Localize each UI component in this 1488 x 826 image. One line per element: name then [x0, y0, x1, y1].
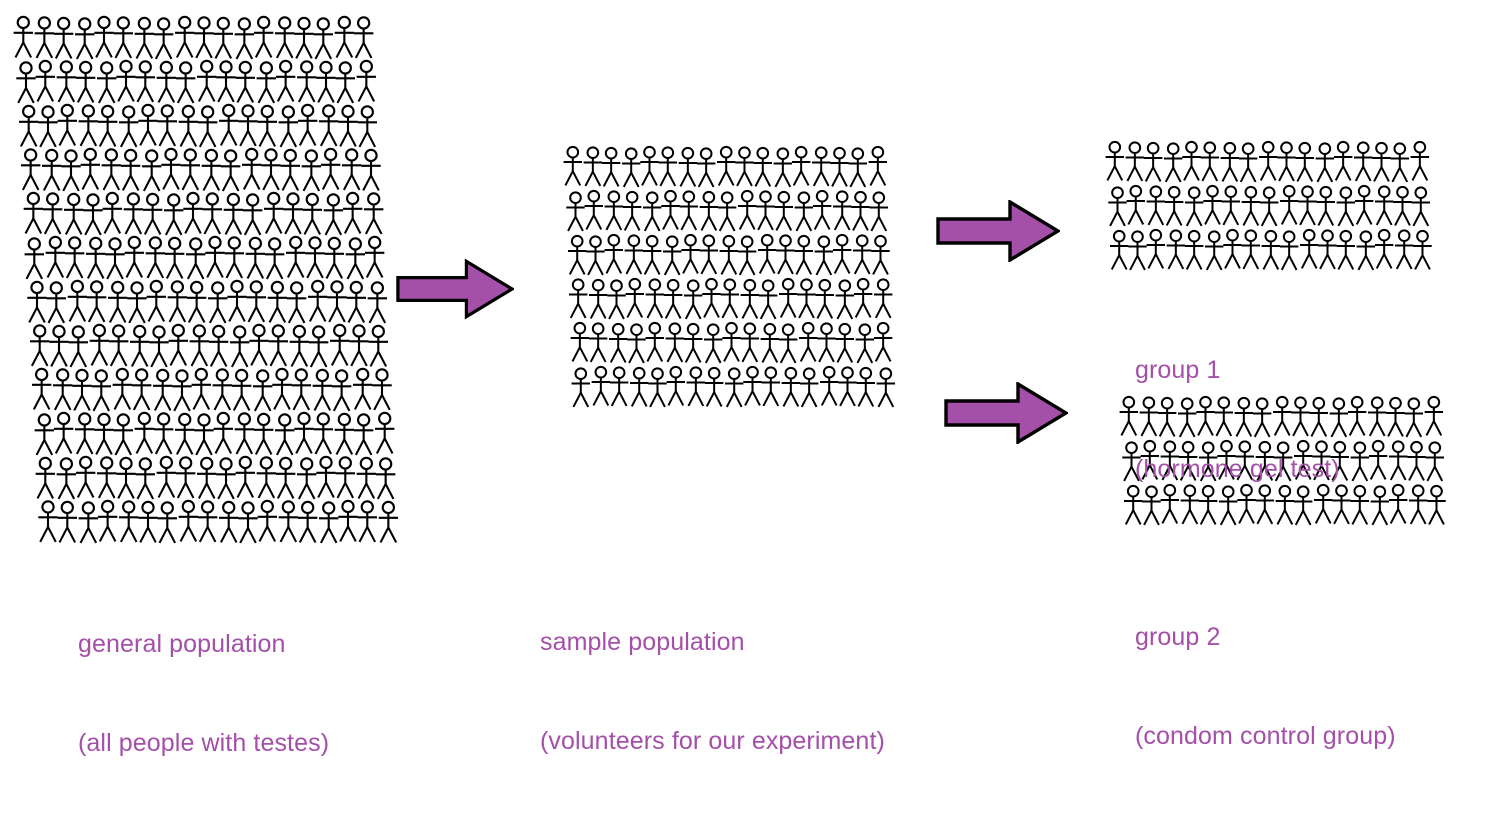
stick-figure-icon: [1110, 228, 1129, 271]
caption-general-line-2: (all people with testes): [78, 727, 329, 760]
stick-figure-icon: [253, 412, 273, 455]
stick-figure-icon: [13, 15, 33, 58]
stick-figure-icon: [609, 321, 628, 364]
stick-figure-icon: [1357, 229, 1376, 272]
stick-figure-icon: [280, 148, 300, 191]
stick-figure-icon: [234, 412, 254, 455]
stick-figure-icon: [124, 235, 144, 278]
stick-figure-icon: [776, 233, 795, 276]
stick-figure-icon: [98, 104, 118, 147]
stick-figure-icon: [1404, 396, 1423, 439]
stick-figure-icon: [235, 455, 255, 498]
stick-figure-icon: [1424, 394, 1443, 437]
stick-figure-icon: [678, 145, 697, 188]
stick-figure-icon: [276, 456, 296, 499]
stick-figure-icon: [563, 144, 582, 187]
stick-figure-icon: [180, 148, 200, 191]
stick-figure-icon: [256, 456, 276, 499]
stick-figure-icon: [566, 190, 585, 233]
stick-figure-icon: [1372, 140, 1391, 183]
stick-figure-icon: [372, 368, 392, 411]
stick-figure-icon: [134, 411, 154, 454]
population-row: [564, 145, 895, 188]
stick-figure-icon: [1348, 394, 1367, 437]
stick-figure-icon: [610, 365, 629, 408]
stick-figure-icon: [149, 325, 169, 368]
stick-figure-icon: [146, 279, 166, 322]
stick-figure-icon: [1375, 227, 1394, 270]
stick-figure-icon: [871, 233, 890, 276]
stick-figure-icon: [1205, 229, 1224, 272]
stick-figure-icon: [279, 105, 299, 148]
population-row: [25, 236, 398, 279]
stick-figure-icon: [1316, 184, 1335, 227]
stick-figure-icon: [717, 190, 736, 233]
stick-figure-icon: [116, 456, 136, 499]
stick-figure-icon: [1354, 140, 1373, 183]
stick-figure-icon: [49, 324, 69, 367]
stick-figure-icon: [720, 277, 739, 320]
stick-figure-icon: [179, 499, 199, 542]
stick-figure-icon: [20, 148, 40, 191]
population-row: [1106, 140, 1432, 183]
stick-figure-icon: [213, 411, 233, 454]
stick-figure-icon: [324, 236, 344, 279]
stick-figure-icon: [30, 324, 50, 367]
stick-figure-icon: [357, 59, 377, 102]
stick-figure-icon: [568, 277, 587, 320]
population-row: [14, 16, 398, 59]
population-row: [36, 456, 398, 499]
stick-figure-icon: [1300, 227, 1319, 270]
stick-figure-icon: [220, 149, 240, 192]
stick-figure-icon: [1425, 440, 1444, 483]
stick-figure-icon: [666, 321, 685, 364]
stick-figure-icon: [42, 192, 62, 235]
stick-figure-icon: [298, 500, 318, 543]
stick-figure-icon: [97, 456, 117, 499]
stick-figure-icon: [186, 237, 206, 280]
stick-figure-icon: [740, 277, 759, 320]
stick-figure-icon: [238, 501, 258, 544]
stick-figure-icon: [175, 15, 195, 58]
stick-figure-icon: [109, 324, 129, 367]
stick-figure-icon: [187, 280, 207, 323]
stick-figure-icon: [327, 280, 347, 323]
stick-figure-icon: [833, 232, 852, 275]
stick-figure-icon: [141, 149, 161, 192]
stick-figure-icon: [127, 281, 147, 324]
block-arrow-right-icon: [946, 384, 1066, 442]
stick-figure-icon: [812, 188, 831, 231]
stick-figure-icon: [856, 322, 875, 365]
stick-figure-icon: [174, 412, 194, 455]
stick-figure-icon: [797, 277, 816, 320]
stick-figure-icon: [102, 191, 122, 234]
stick-figure-icon: [345, 237, 365, 280]
stick-figure-icon: [799, 320, 818, 363]
stick-figure-icon: [190, 324, 210, 367]
arrow-general-to-sample: [396, 256, 514, 322]
stick-figure-icon: [223, 192, 243, 235]
stick-figure-icon: [105, 237, 125, 280]
stick-figure-icon: [1262, 228, 1281, 271]
stick-figure-icon: [169, 323, 189, 366]
stick-figure-icon: [94, 15, 114, 58]
stick-figure-icon: [161, 147, 181, 190]
stick-figure-icon: [234, 17, 254, 60]
stick-figure-icon: [38, 500, 58, 543]
stick-figure-icon: [172, 369, 192, 412]
stick-figure-icon: [76, 455, 96, 498]
stick-figure-icon: [663, 234, 682, 277]
stick-figure-icon: [1164, 141, 1183, 184]
caption-sample-population: sample population (volunteers for our ex…: [540, 560, 885, 824]
population-row: [27, 280, 398, 323]
stick-figure-icon: [216, 457, 236, 500]
stick-figure-icon: [1105, 139, 1124, 182]
stick-figure-icon: [1239, 141, 1258, 184]
stick-figure-icon: [56, 457, 76, 500]
caption-group1-line-2: (hormone gel test): [1135, 453, 1340, 486]
stick-figure-icon: [1407, 439, 1426, 482]
stick-figure-icon: [219, 103, 239, 146]
stick-figure-icon: [800, 366, 819, 409]
population-row: [569, 277, 895, 320]
stick-figure-icon: [45, 235, 65, 278]
caption-sample-line-2: (volunteers for our experiment): [540, 725, 885, 758]
population-row: [1108, 184, 1433, 227]
stick-figure-icon: [231, 368, 251, 411]
stick-figure-icon: [257, 61, 277, 104]
stick-figure-icon: [758, 232, 777, 275]
stick-figure-icon: [156, 455, 176, 498]
stick-figure-icon: [313, 17, 333, 60]
stick-figure-icon: [699, 189, 718, 232]
stick-figure-icon: [369, 324, 389, 367]
stick-figure-icon: [290, 324, 310, 367]
stick-figure-icon: [75, 17, 95, 60]
caption-sample-line-1: sample population: [540, 626, 885, 659]
stick-figure-icon: [301, 149, 321, 192]
arrow-sample-to-group2: [944, 382, 1068, 444]
population-row: [29, 324, 398, 367]
population-row: [1109, 228, 1432, 271]
stick-figure-icon: [1413, 228, 1432, 271]
stick-figure-icon: [197, 59, 217, 102]
stick-figure-icon: [589, 321, 608, 364]
stick-figure-icon: [198, 105, 218, 148]
stick-figure-icon: [257, 499, 277, 542]
stick-figure-icon: [113, 413, 133, 456]
stick-figure-icon: [235, 60, 255, 103]
stick-figure-icon: [287, 281, 307, 324]
stick-figure-icon: [319, 104, 339, 147]
stick-figure-icon: [602, 145, 621, 188]
stick-figure-icon: [334, 15, 354, 58]
stick-figure-icon: [349, 324, 369, 367]
stick-figure-icon: [194, 413, 214, 456]
stick-figure-icon: [194, 16, 214, 59]
stick-figure-icon: [342, 191, 362, 234]
stick-figure-icon: [131, 368, 151, 411]
population-row: [572, 365, 895, 408]
stick-figure-icon: [697, 146, 716, 189]
stick-figure-icon: [622, 146, 641, 189]
population-row: [32, 368, 399, 411]
stick-figure-icon: [679, 189, 698, 232]
population-row: [23, 192, 398, 235]
stick-figure-icon: [1390, 141, 1409, 184]
stick-figure-icon: [230, 325, 250, 368]
stick-figure-icon: [191, 367, 211, 410]
stick-figure-icon: [1298, 184, 1317, 227]
caption-group-2: group 2 (condom control group): [1135, 555, 1396, 819]
stick-figure-icon: [353, 413, 373, 456]
stick-figure-icon: [57, 500, 77, 543]
population-row: [567, 233, 895, 276]
stick-figure-icon: [34, 16, 54, 59]
stick-figure-icon: [853, 276, 872, 319]
stick-figure-icon: [738, 234, 757, 277]
stick-figure-icon: [1336, 185, 1355, 228]
stick-figure-icon: [352, 367, 372, 410]
stick-figure-icon: [219, 500, 239, 543]
stick-figure-icon: [868, 144, 887, 187]
stick-figure-icon: [258, 104, 278, 147]
stick-figure-icon: [722, 320, 741, 363]
stick-figure-icon: [27, 280, 47, 323]
stick-figure-icon: [168, 280, 188, 323]
stick-figure-icon: [163, 193, 183, 236]
stick-figure-icon: [308, 279, 328, 322]
stick-figure-icon: [331, 369, 351, 412]
stick-figure-icon: [319, 501, 339, 544]
stick-figure-icon: [216, 60, 236, 103]
stick-figure-icon: [1371, 484, 1390, 527]
stick-figure-icon: [681, 232, 700, 275]
stick-figure-icon: [1411, 185, 1430, 228]
stick-figure-icon: [201, 148, 221, 191]
stick-figure-icon: [815, 277, 834, 320]
stick-figure-icon: [261, 148, 281, 191]
stick-figure-icon: [851, 189, 870, 232]
arrow-sample-to-group1: [936, 200, 1060, 262]
stick-figure-icon: [1393, 184, 1412, 227]
stick-figure-icon: [80, 147, 100, 190]
stick-figure-icon: [108, 280, 128, 323]
stick-figure-icon: [142, 192, 162, 235]
stick-figure-icon: [354, 16, 374, 59]
stick-figure-icon: [1126, 183, 1145, 226]
population-row: [566, 189, 895, 232]
stick-figure-icon: [625, 233, 644, 276]
stick-figure-icon: [323, 193, 343, 236]
stick-figure-icon: [283, 192, 303, 235]
stick-figure-icon: [112, 367, 132, 410]
stick-figure-icon: [737, 188, 756, 231]
stick-figure-icon: [152, 368, 172, 411]
stick-figure-icon: [135, 457, 155, 500]
stick-figure-icon: [119, 105, 139, 148]
stick-figure-icon: [227, 279, 247, 322]
caption-general-line-1: general population: [78, 628, 329, 661]
stick-figure-icon: [138, 103, 158, 146]
stick-figure-icon: [625, 276, 644, 319]
stick-figure-icon: [376, 457, 396, 500]
stick-figure-icon: [158, 104, 178, 147]
stick-figure-icon: [197, 456, 217, 499]
stick-figure-icon: [63, 192, 83, 235]
stick-figure-icon: [1203, 183, 1222, 226]
stick-figure-icon: [848, 146, 867, 189]
stick-figure-icon: [1336, 228, 1355, 271]
stick-figure-icon: [1409, 483, 1428, 526]
stick-figure-icon: [305, 236, 325, 279]
stick-figure-icon: [279, 500, 299, 543]
stick-figure-icon: [302, 192, 322, 235]
stick-figure-icon: [212, 368, 232, 411]
stick-figure-icon: [35, 59, 55, 102]
stick-figure-icon: [224, 236, 244, 279]
stick-figure-icon: [1427, 483, 1446, 526]
stick-figure-icon: [245, 236, 265, 279]
stick-figure-icon: [658, 145, 677, 188]
stick-figure-icon: [53, 411, 73, 454]
stick-figure-icon: [876, 366, 895, 409]
stick-figure-icon: [838, 365, 857, 408]
stick-figure-icon: [820, 364, 839, 407]
stick-figure-icon: [1125, 140, 1144, 183]
stick-figure-icon: [1334, 139, 1353, 182]
stick-figure-icon: [179, 104, 199, 147]
population-row: [570, 321, 895, 364]
stick-figure-icon: [130, 324, 150, 367]
stick-figure-icon: [363, 192, 383, 235]
stick-figure-icon: [661, 188, 680, 231]
stick-figure-icon: [869, 190, 888, 233]
stick-figure-icon: [643, 233, 662, 276]
stick-figure-icon: [686, 365, 705, 408]
stick-figure-icon: [74, 412, 94, 455]
stick-figure-icon: [720, 233, 739, 276]
stick-figure-icon: [23, 191, 43, 234]
stick-figure-icon: [374, 411, 394, 454]
stick-figure-icon: [79, 501, 99, 544]
stick-figure-icon: [57, 60, 77, 103]
stick-figure-icon: [1315, 141, 1334, 184]
stick-figure-icon: [297, 60, 317, 103]
stick-figure-icon: [313, 412, 333, 455]
stick-figure-icon: [1389, 482, 1408, 525]
stick-figure-icon: [622, 189, 641, 232]
stick-figure-icon: [274, 413, 294, 456]
stick-figure-icon: [773, 146, 792, 189]
stick-figure-icon: [357, 500, 377, 543]
stick-figure-icon: [19, 104, 39, 147]
stick-figure-icon: [35, 456, 55, 499]
stick-figure-icon: [320, 147, 340, 190]
stick-figure-icon: [286, 235, 306, 278]
stick-figure-icon: [176, 61, 196, 104]
stick-figure-icon: [856, 365, 875, 408]
stick-figure-icon: [61, 149, 81, 192]
stick-figure-icon: [1241, 184, 1260, 227]
population-row: [16, 60, 398, 103]
stick-figure-icon: [873, 277, 892, 320]
stick-figure-icon: [123, 192, 143, 235]
stick-figure-icon: [87, 280, 107, 323]
stick-figure-icon: [291, 368, 311, 411]
caption-general-population: general population (all people with test…: [78, 562, 329, 826]
stick-figure-icon: [874, 320, 893, 363]
stick-figure-icon: [154, 17, 174, 60]
stick-figure-icon: [116, 59, 136, 102]
stick-figure-icon: [717, 144, 736, 187]
stick-figure-icon: [642, 190, 661, 233]
stick-figure-icon: [312, 368, 332, 411]
stick-figure-icon: [1277, 140, 1296, 183]
stick-figure-icon: [1374, 184, 1393, 227]
stick-figure-icon: [335, 61, 355, 104]
stick-figure-icon: [758, 278, 777, 321]
stick-figure-icon: [76, 60, 96, 103]
stick-figure-icon: [1146, 184, 1165, 227]
stick-figure-icon: [213, 16, 233, 59]
caption-group-1: group 1 (hormone gel test): [1135, 288, 1340, 552]
stick-figure-icon: [571, 320, 590, 363]
stick-figure-icon: [138, 500, 158, 543]
stick-figure-icon: [761, 321, 780, 364]
stick-figure-icon: [379, 500, 399, 543]
stick-figure-icon: [646, 320, 665, 363]
stick-figure-icon: [276, 59, 296, 102]
stick-figure-icon: [830, 145, 849, 188]
stick-figure-icon: [335, 456, 355, 499]
stick-figure-icon: [1318, 228, 1337, 271]
stick-figure-icon: [254, 15, 274, 58]
stick-figure-icon: [153, 412, 173, 455]
stick-figure-icon: [1241, 228, 1260, 271]
stick-figure-icon: [113, 16, 133, 59]
block-arrow-right-icon: [398, 261, 512, 316]
stick-figure-icon: [627, 322, 646, 365]
stick-figure-icon: [1354, 183, 1373, 226]
stick-figure-icon: [246, 280, 266, 323]
population-block-sample-population: [564, 145, 895, 408]
stick-figure-icon: [91, 369, 111, 412]
stick-figure-icon: [46, 281, 66, 324]
stick-figure-icon: [31, 367, 51, 410]
stick-figure-icon: [741, 321, 760, 364]
stick-figure-icon: [1368, 438, 1387, 481]
stick-figure-icon: [176, 456, 196, 499]
caption-group1-line-1: group 1: [1135, 354, 1340, 387]
stick-figure-icon: [761, 365, 780, 408]
stick-figure-icon: [249, 323, 269, 366]
stick-figure-icon: [198, 500, 218, 543]
stick-figure-icon: [316, 60, 336, 103]
stick-figure-icon: [853, 233, 872, 276]
stick-figure-icon: [294, 411, 314, 454]
stick-figure-icon: [68, 279, 88, 322]
stick-figure-icon: [1220, 140, 1239, 183]
stick-figure-icon: [1223, 227, 1242, 270]
stick-figure-icon: [1350, 483, 1369, 526]
population-row: [21, 148, 399, 191]
population-block-general-population: [14, 16, 398, 543]
stick-figure-icon: [90, 323, 110, 366]
